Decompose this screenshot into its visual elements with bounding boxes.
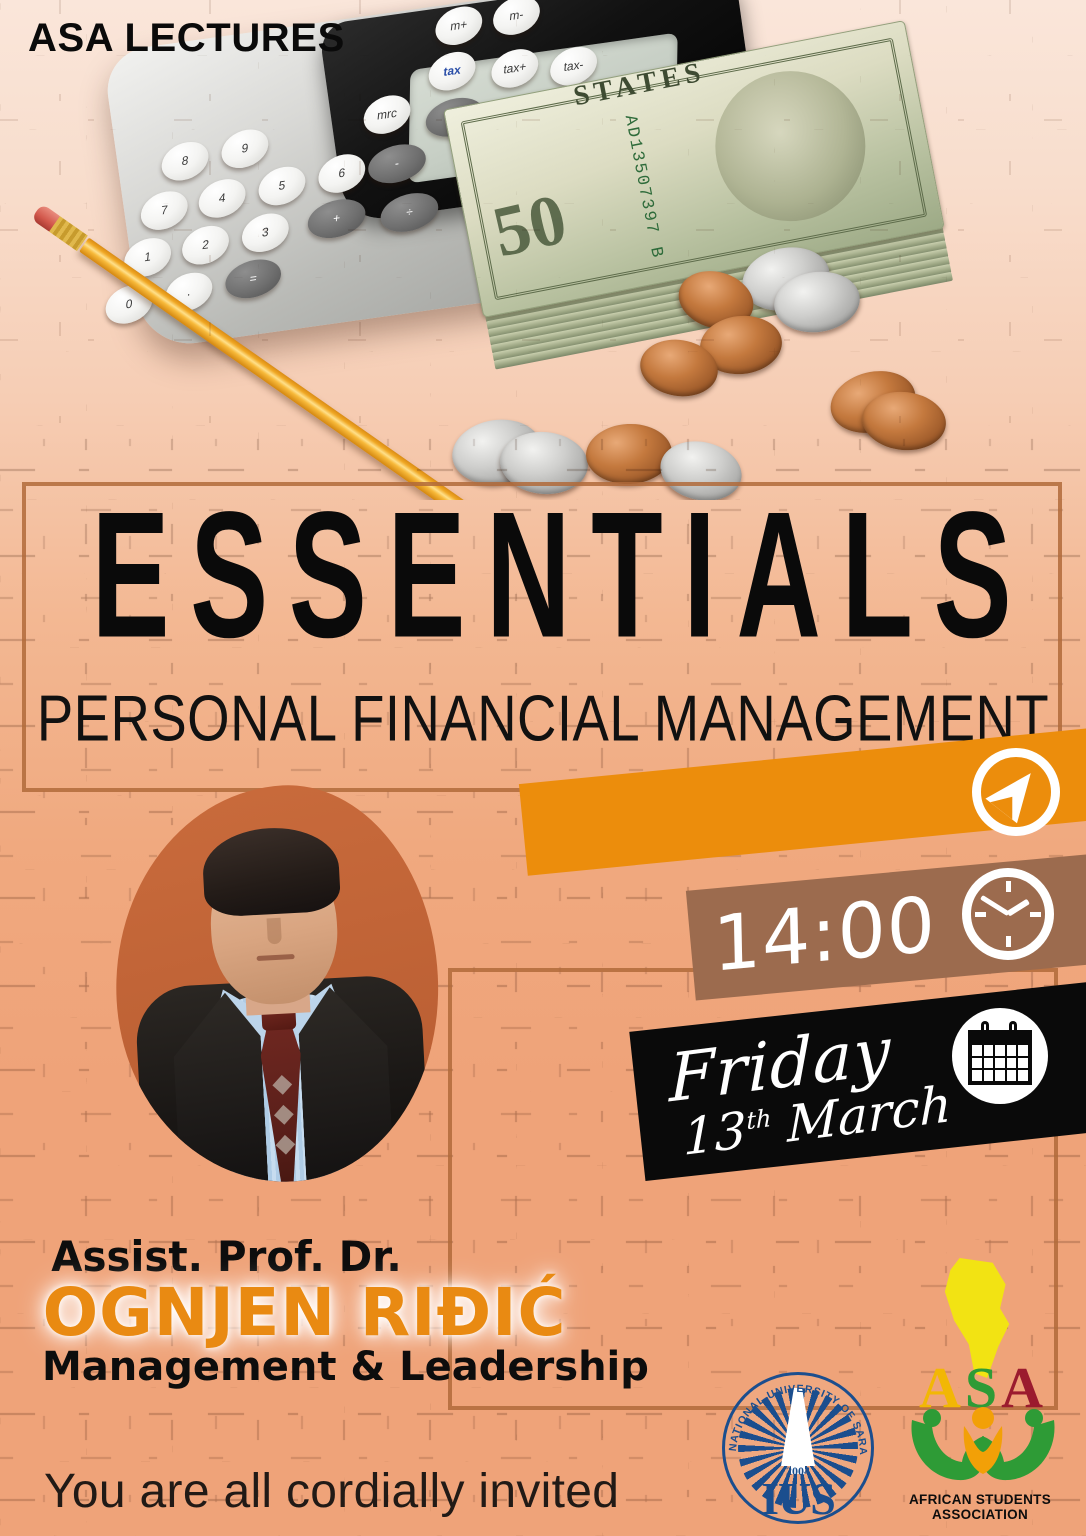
calculator-key: 8	[160, 139, 211, 183]
speaker-topic: Management & Leadership	[42, 1344, 649, 1390]
svg-text:INTERNATIONAL UNIVERSITY OF SA: INTERNATIONAL UNIVERSITY OF SARAJEVO	[722, 1372, 869, 1456]
calendar-icon	[952, 1008, 1048, 1104]
calculator-key: ÷	[379, 189, 440, 235]
page-subtitle: PERSONAL FINANCIAL MANAGEMENT	[33, 681, 1054, 756]
calculator-key: 5	[257, 164, 308, 208]
event-date: Friday 13th March	[669, 1010, 952, 1164]
speaker-portrait-illustration	[106, 778, 448, 1190]
calculator-key: 3	[240, 210, 291, 254]
poster-root: 8 9 7 4 5 6 1 2 3 0 . = + - × ÷ tax tax+…	[0, 0, 1086, 1536]
header-photo-calculator-money: 8 9 7 4 5 6 1 2 3 0 . = + - × ÷ tax tax+…	[0, 0, 1086, 500]
pencil-ferrule	[49, 216, 88, 251]
calculator-key: =	[223, 256, 282, 302]
speaker-photo	[106, 778, 448, 1190]
speaker-name: OGNJEN RIĐIĆ	[43, 1274, 567, 1351]
ius-acronym: IUS	[722, 1476, 874, 1522]
event-date-ordinal: th	[746, 1104, 771, 1135]
clock-icon	[962, 868, 1054, 960]
title-block: ESSENTIALS OF PERSONAL FINANCIAL MANAGEM…	[0, 490, 1086, 748]
event-date-number: 13	[683, 1101, 746, 1167]
calculator-key: +	[306, 196, 367, 242]
ius-arc-label: INTERNATIONAL UNIVERSITY OF SARAJEVO	[722, 1372, 869, 1456]
calculator-key: 9	[220, 127, 271, 171]
asa-people-icon	[906, 1406, 1060, 1484]
ius-logo: 2004 INTERNATIONAL UNIVERSITY OF SARAJEV…	[722, 1372, 874, 1524]
page-title: ESSENTIALS OF	[76, 490, 1010, 661]
calculator-key: 4	[197, 176, 248, 220]
event-time: 14:00	[712, 879, 937, 989]
invitation-text: You are all cordially invited	[44, 1464, 619, 1519]
calculator-key: -	[366, 141, 427, 187]
navigation-arrow-icon	[972, 748, 1060, 836]
asa-logo: ASA AFRICAN STUDENTS ASSOCIATION	[900, 1258, 1066, 1524]
asa-caption: AFRICAN STUDENTS ASSOCIATION	[894, 1492, 1066, 1522]
calculator-key: 6	[317, 151, 368, 195]
calculator-key: 2	[180, 223, 231, 267]
series-label: ASA LECTURES	[28, 16, 345, 61]
